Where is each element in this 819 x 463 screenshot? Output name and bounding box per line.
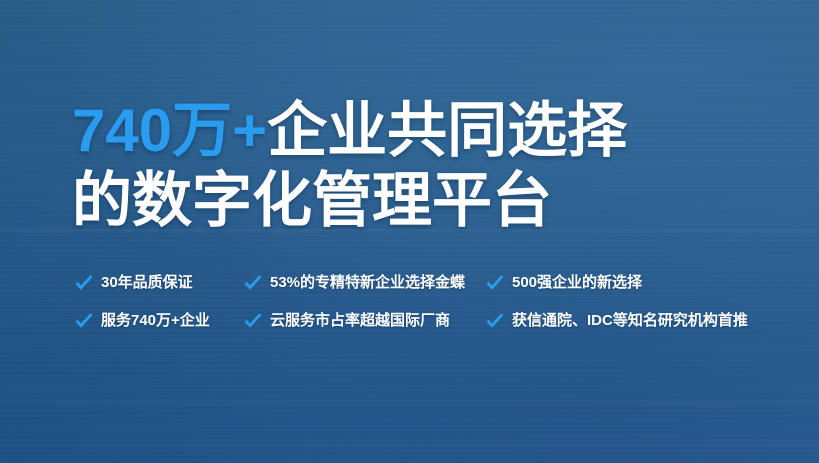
feature-item: 53%的专精特新企业选择金蝶 <box>243 268 485 298</box>
feature-label: 500强企业的新选择 <box>512 273 642 293</box>
feature-item: 云服务市占率超越国际厂商 <box>243 306 485 336</box>
feature-label: 云服务市占率超越国际厂商 <box>270 311 450 331</box>
check-icon <box>243 273 263 293</box>
banner-content: 740万+企业共同选择 的数字化管理平台 30年品质保证 53%的专精特新企业选… <box>0 0 819 463</box>
headline-line-1: 740万+企业共同选择 <box>72 96 772 166</box>
feature-row: 服务740万+企业 云服务市占率超越国际厂商 获信通院、IDC等知名研究机构首推 <box>74 306 774 344</box>
check-icon <box>243 311 263 331</box>
headline-line-1-rest: 企业共同选择 <box>267 97 627 164</box>
feature-label: 获信通院、IDC等知名研究机构首推 <box>512 311 748 331</box>
feature-item: 获信通院、IDC等知名研究机构首推 <box>485 306 748 336</box>
feature-item: 30年品质保证 <box>74 268 243 298</box>
check-icon <box>485 311 505 331</box>
feature-item: 500强企业的新选择 <box>485 268 642 298</box>
check-icon <box>485 273 505 293</box>
headline: 740万+企业共同选择 的数字化管理平台 <box>72 96 772 236</box>
check-icon <box>74 273 94 293</box>
promo-banner: 740万+企业共同选择 的数字化管理平台 30年品质保证 53%的专精特新企业选… <box>0 0 819 463</box>
feature-label: 53%的专精特新企业选择金蝶 <box>270 273 465 293</box>
check-icon <box>74 311 94 331</box>
headline-line-2: 的数字化管理平台 <box>72 166 772 236</box>
headline-accent-number: 740万+ <box>72 97 267 164</box>
feature-row: 30年品质保证 53%的专精特新企业选择金蝶 500强企业的新选择 <box>74 268 774 306</box>
feature-item: 服务740万+企业 <box>74 306 243 336</box>
feature-label: 30年品质保证 <box>101 273 193 293</box>
feature-list: 30年品质保证 53%的专精特新企业选择金蝶 500强企业的新选择 <box>74 268 774 344</box>
feature-label: 服务740万+企业 <box>101 311 210 331</box>
